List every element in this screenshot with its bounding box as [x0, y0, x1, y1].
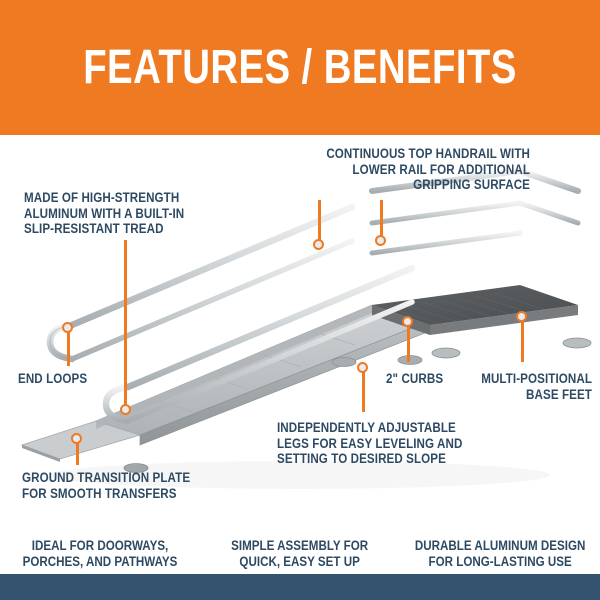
- leader-dot-top-handrail-b: [375, 235, 386, 246]
- page-header: FEATURES / BENEFITS: [0, 0, 600, 135]
- leader-line-ground-transition-plate: [76, 443, 79, 465]
- footer-bar: [0, 574, 600, 600]
- leader-line-adjustable-legs: [362, 370, 365, 412]
- leader-dot-curbs: [402, 316, 413, 327]
- benefit-item-durable: DURABLE ALUMINUM DESIGN FOR LONG-LASTING…: [400, 522, 600, 570]
- leader-line-curbs: [407, 324, 410, 362]
- callout-end-loops: END LOOPS: [18, 371, 121, 387]
- leader-line-base-feet: [521, 320, 524, 362]
- page-title: FEATURES / BENEFITS: [83, 40, 517, 95]
- benefit-text-doorways: IDEAL FOR DOORWAYS, PORCHES, AND PATHWAY…: [23, 538, 178, 570]
- leader-line-end-loops: [67, 330, 70, 366]
- benefit-row: IDEAL FOR DOORWAYS, PORCHES, AND PATHWAY…: [0, 520, 600, 572]
- leader-dot-adjustable-legs: [357, 362, 368, 373]
- leader-dot-base-feet: [516, 311, 527, 322]
- callout-top-handrail: CONTINUOUS TOP HANDRAIL WITH LOWER RAIL …: [306, 146, 530, 193]
- callout-base-feet: MULTI-POSITIONAL BASE FEET: [437, 371, 592, 402]
- benefit-text-assembly: SIMPLE ASSEMBLY FOR QUICK, EASY SET UP: [232, 538, 369, 570]
- benefit-text-durable: DURABLE ALUMINUM DESIGN FOR LONG-LASTING…: [415, 538, 585, 570]
- leader-dot-top-handrail-a: [313, 239, 324, 250]
- leader-dot-end-loops: [62, 322, 73, 333]
- infographic-page: FEATURES / BENEFITS: [0, 0, 600, 600]
- leader-dot-ground-transition-plate: [71, 433, 82, 444]
- benefit-item-doorways: IDEAL FOR DOORWAYS, PORCHES, AND PATHWAY…: [0, 522, 200, 570]
- leader-line-top-handrail-a: [318, 200, 321, 242]
- benefit-item-assembly: SIMPLE ASSEMBLY FOR QUICK, EASY SET UP: [200, 522, 400, 570]
- leader-line-aluminum-tread: [124, 240, 127, 406]
- leader-line-top-handrail-b: [380, 200, 383, 238]
- callout-ground-transition-plate: GROUND TRANSITION PLATE FOR SMOOTH TRANS…: [22, 470, 228, 501]
- callout-adjustable-legs: INDEPENDENTLY ADJUSTABLE LEGS FOR EASY L…: [277, 420, 475, 467]
- callout-aluminum-tread: MADE OF HIGH-STRENGTH ALUMINUM WITH A BU…: [24, 190, 222, 237]
- leader-dot-aluminum-tread: [120, 404, 131, 415]
